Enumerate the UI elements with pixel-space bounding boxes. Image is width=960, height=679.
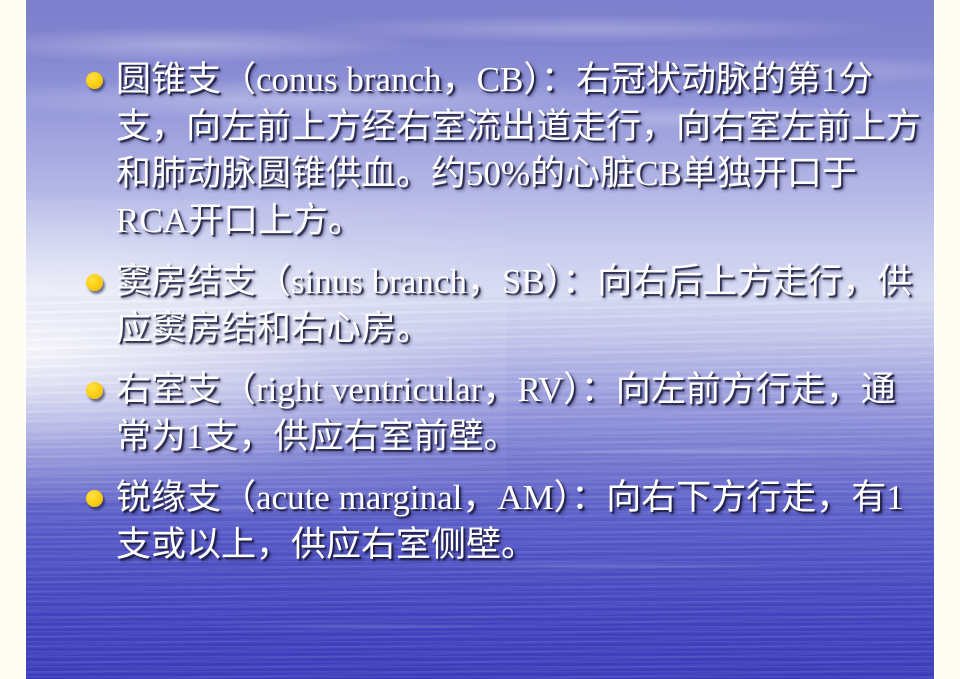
bullet-text-sinus-branch: 窦房结支（sinus branch，SB）：向右后上方走行，供应窦房结和右心房。 (116, 258, 926, 352)
bullet-text-right-ventricular: 右室支（right ventricular，RV）：向左前方行走，通常为1支，供… (116, 366, 926, 460)
bullet-dot-icon (86, 382, 103, 399)
bullet-dot-icon (86, 274, 103, 291)
bullet-item-conus-branch: 圆锥支（conus branch，CB）：右冠状动脉的第1分支，向左前上方经右室… (78, 56, 926, 244)
bullet-dot-icon (86, 490, 103, 507)
bullet-item-acute-marginal: 锐缘支（acute marginal，AM）：向右下方行走，有1支或以上，供应右… (78, 474, 926, 568)
bullet-text-conus-branch: 圆锥支（conus branch，CB）：右冠状动脉的第1分支，向左前上方经右室… (116, 56, 926, 244)
slide-body-content: 圆锥支（conus branch，CB）：右冠状动脉的第1分支，向左前上方经右室… (0, 56, 960, 568)
bullet-dot-icon (86, 72, 103, 89)
bullet-text-acute-marginal: 锐缘支（acute marginal，AM）：向右下方行走，有1支或以上，供应右… (116, 474, 926, 568)
bullet-item-right-ventricular: 右室支（right ventricular，RV）：向左前方行走，通常为1支，供… (78, 366, 926, 460)
presentation-slide: 圆锥支（conus branch，CB）：右冠状动脉的第1分支，向左前上方经右室… (0, 0, 960, 679)
bullet-item-sinus-branch: 窦房结支（sinus branch，SB）：向右后上方走行，供应窦房结和右心房。 (78, 258, 926, 352)
